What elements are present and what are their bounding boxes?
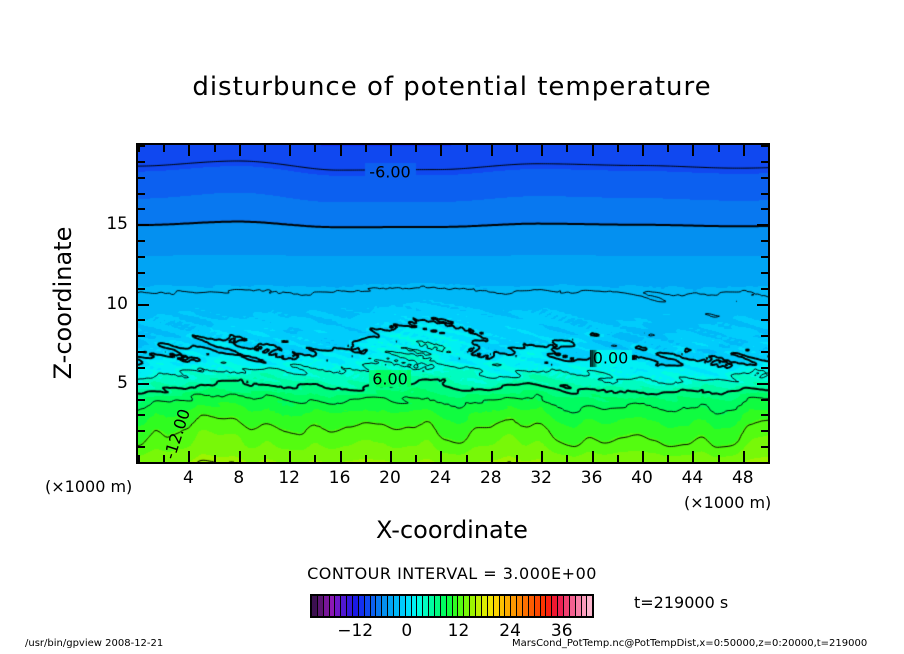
x-axis-tick: [743, 451, 745, 462]
x-axis-tick-top: [390, 145, 392, 156]
x-axis-tick-label: 4: [183, 468, 194, 488]
contour-field: [138, 145, 768, 462]
plot-area: [136, 143, 770, 464]
y-axis-tick: [138, 462, 145, 464]
y-axis-tick-right: [761, 335, 768, 337]
colorbar-tick-label: −12: [337, 621, 373, 641]
y-axis-tick-right: [761, 399, 768, 401]
x-axis-tick: [466, 455, 468, 462]
y-axis-tick-right: [761, 367, 768, 369]
x-axis-tick-top: [163, 145, 165, 152]
x-axis-tick-label: 24: [430, 468, 452, 488]
y-axis-tick: [138, 161, 145, 163]
x-axis-tick: [617, 455, 619, 462]
x-axis-tick-top: [617, 145, 619, 152]
y-axis-tick-right: [761, 256, 768, 258]
x-axis-tick-label: 12: [278, 468, 300, 488]
x-axis-tick-top: [718, 145, 720, 152]
y-axis-tick-right: [761, 288, 768, 290]
y-axis-tick-right: [761, 145, 768, 147]
x-axis-tick-label: 28: [480, 468, 502, 488]
x-axis-tick-label: 48: [732, 468, 754, 488]
colorbar-tick-label: 36: [551, 621, 573, 641]
x-axis-tick-top: [566, 145, 568, 152]
x-axis-tick-top: [516, 145, 518, 152]
x-axis-tick: [440, 451, 442, 462]
x-axis-tick: [314, 455, 316, 462]
y-axis-tick: [138, 351, 145, 353]
y-axis-tick: [138, 430, 145, 432]
colorbar-swatch: [587, 596, 592, 616]
contour-label: -6.00: [369, 162, 410, 181]
x-axis-tick-top: [264, 145, 266, 152]
page-title: disturbunce of potential temperature: [0, 72, 904, 102]
x-axis-tick: [264, 455, 266, 462]
x-axis-tick: [415, 455, 417, 462]
y-axis-tick: [138, 177, 145, 179]
x-axis-tick: [289, 451, 291, 462]
x-axis-tick-top: [289, 145, 291, 156]
x-axis-tick-label: 44: [682, 468, 704, 488]
x-axis-tick: [491, 451, 493, 462]
y-axis-tick: [138, 288, 145, 290]
x-axis-tick: [592, 451, 594, 462]
contour-interval-caption: CONTOUR INTERVAL = 3.000E+00: [0, 564, 904, 583]
x-axis-tick-label: 20: [379, 468, 401, 488]
y-axis-tick: [138, 256, 145, 258]
y-axis-tick-right: [757, 304, 768, 306]
y-axis-tick-right: [761, 161, 768, 163]
colorbar: [310, 594, 594, 618]
time-label: t=219000 s: [634, 593, 728, 612]
x-axis-tick: [768, 455, 770, 462]
colorbar-tick-label: 24: [499, 621, 521, 641]
x-axis-tick-top: [239, 145, 241, 156]
y-axis-tick-right: [761, 430, 768, 432]
y-axis-tick-right: [761, 193, 768, 195]
y-axis-tick-right: [761, 462, 768, 464]
x-axis-tick-label: 32: [530, 468, 552, 488]
y-axis-tick-right: [757, 224, 768, 226]
y-axis-tick-right: [761, 414, 768, 416]
y-axis-tick: [138, 319, 145, 321]
x-axis-tick-top: [768, 145, 770, 152]
x-axis-tick-top: [440, 145, 442, 156]
x-axis-tick-top: [314, 145, 316, 152]
y-axis-tick: [138, 304, 149, 306]
x-axis-tick: [239, 451, 241, 462]
x-axis-tick-top: [491, 145, 493, 156]
x-axis-tick: [718, 455, 720, 462]
y-axis-tick-label: 10: [88, 294, 128, 314]
x-axis-tick: [667, 455, 669, 462]
x-axis-tick-label: 8: [233, 468, 244, 488]
y-axis-tick: [138, 446, 145, 448]
y-axis-tick: [138, 240, 145, 242]
y-axis-tick-right: [761, 446, 768, 448]
x-axis-tick-top: [692, 145, 694, 156]
colorbar-tick-label: 12: [448, 621, 470, 641]
x-axis-unit-label: (×1000 m): [684, 493, 771, 512]
x-axis-tick-label: 40: [631, 468, 653, 488]
contour-label: 6.00: [372, 369, 408, 388]
x-axis-tick: [138, 455, 140, 462]
y-axis-tick: [138, 367, 145, 369]
y-axis-tick: [138, 414, 145, 416]
y-axis-tick-right: [757, 383, 768, 385]
x-axis-tick: [692, 451, 694, 462]
y-axis-tick: [138, 193, 145, 195]
y-axis-unit-label: (×1000 m): [45, 477, 132, 496]
y-axis-tick-label: 15: [88, 214, 128, 234]
x-axis-tick: [516, 455, 518, 462]
y-axis-tick-right: [761, 208, 768, 210]
x-axis-tick-label: 16: [329, 468, 351, 488]
y-axis-tick: [138, 383, 149, 385]
y-axis-tick-right: [761, 351, 768, 353]
y-axis-tick: [138, 208, 145, 210]
x-axis-tick-top: [642, 145, 644, 156]
x-axis-tick: [390, 451, 392, 462]
x-axis-tick: [340, 451, 342, 462]
x-axis-tick-top: [415, 145, 417, 152]
x-axis-tick-top: [743, 145, 745, 156]
y-axis-tick-label: 5: [88, 373, 128, 393]
y-axis-tick-right: [761, 177, 768, 179]
y-axis-tick: [138, 335, 145, 337]
footer-command-text: /usr/bin/gpview 2008-12-21: [25, 638, 163, 649]
x-axis-tick: [365, 455, 367, 462]
x-axis-tick-top: [541, 145, 543, 156]
y-axis-tick: [138, 224, 149, 226]
y-axis-tick-right: [761, 319, 768, 321]
y-axis-tick: [138, 399, 145, 401]
x-axis-tick: [188, 451, 190, 462]
y-axis-tick-right: [761, 240, 768, 242]
x-axis-tick: [642, 451, 644, 462]
x-axis-tick-top: [340, 145, 342, 156]
x-axis-tick-top: [214, 145, 216, 152]
contour-label: 0.00: [593, 349, 629, 368]
x-axis-tick-top: [592, 145, 594, 156]
y-axis-tick-right: [761, 272, 768, 274]
y-axis-title: Z-coordinate: [49, 227, 77, 380]
x-axis-tick-top: [365, 145, 367, 152]
x-axis-title: X-coordinate: [0, 516, 904, 544]
y-axis-tick: [138, 145, 145, 147]
x-axis-tick-top: [188, 145, 190, 156]
x-axis-tick-label: 36: [581, 468, 603, 488]
colorbar-tick-label: 0: [401, 621, 412, 641]
x-axis-tick-top: [466, 145, 468, 152]
x-axis-tick: [214, 455, 216, 462]
x-axis-tick-top: [667, 145, 669, 152]
x-axis-tick: [566, 455, 568, 462]
x-axis-tick: [541, 451, 543, 462]
y-axis-tick: [138, 272, 145, 274]
